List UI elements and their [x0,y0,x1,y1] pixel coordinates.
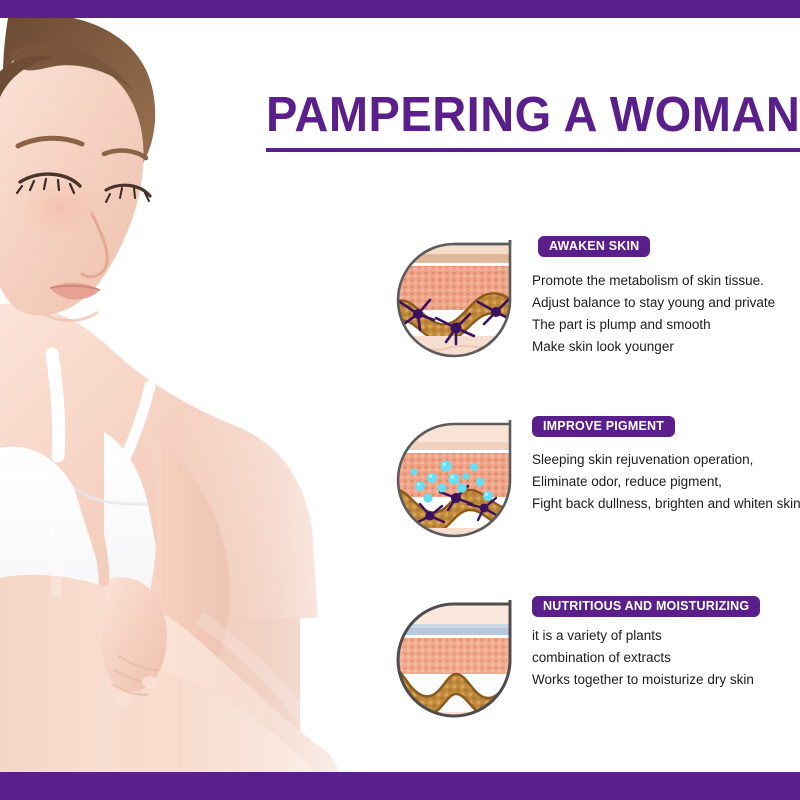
feature-line: Fight back dullness, brighten and whiten… [532,493,800,515]
feature-lines-awaken-skin: Promote the metabolism of skin tissue. A… [532,270,800,358]
feature-line: Promote the metabolism of skin tissue. [532,270,800,292]
feature-line: Adjust balance to stay young and private [532,292,800,314]
top-purple-bar [0,0,800,18]
feature-line: it is a variety of plants [532,625,800,647]
headline-text: PAMPERING A WOMAN [266,88,784,142]
feature-body-improve-pigment: IMPROVE PIGMENT Sleeping skin rejuvenati… [532,416,800,515]
page-title: PAMPERING A WOMAN [266,88,800,152]
skin-cross-section-hydration-layer-icon [396,596,514,720]
bottom-purple-bar [0,772,800,800]
skin-cross-section-nerve-cells-icon [396,236,514,360]
feature-body-awaken-skin: AWAKEN SKIN Promote the metabolism of sk… [532,236,800,358]
headline-underline [266,148,800,152]
feature-line: Eliminate odor, reduce pigment, [532,471,800,493]
feature-line: Works together to moisturize dry skin [532,669,800,691]
feature-line: The part is plump and smooth [532,314,800,336]
feature-body-nutritious-and-moisturizing: NUTRITIOUS AND MOISTURIZING it is a vari… [532,596,800,691]
skin-cross-section-moisture-droplets-icon [396,416,514,540]
feature-lines-nutritious-and-moisturizing: it is a variety of plants combination of… [532,625,800,691]
feature-line: combination of extracts [532,647,800,669]
promotional-poster: PAMPERING A WOMAN [0,0,800,800]
feature-lines-improve-pigment: Sleeping skin rejuvenation operation, El… [532,449,800,515]
badge-awaken-skin[interactable]: AWAKEN SKIN [538,236,650,257]
feature-line: Sleeping skin rejuvenation operation, [532,449,800,471]
feature-line: Make skin look younger [532,336,800,358]
badge-improve-pigment[interactable]: IMPROVE PIGMENT [532,416,675,437]
badge-nutritious-and-moisturizing[interactable]: NUTRITIOUS AND MOISTURIZING [532,596,760,617]
